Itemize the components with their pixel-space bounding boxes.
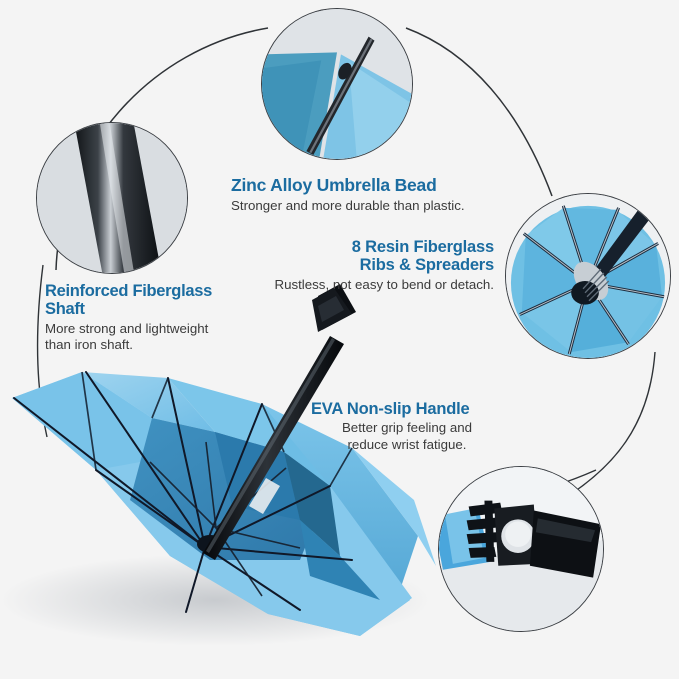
callout-title-bead: Zinc Alloy Umbrella Bead [231, 176, 491, 196]
callout-resin-fiberglass-ribs: 8 Resin Fiberglass Ribs & Spreaders Rust… [252, 238, 494, 293]
callout-zinc-alloy-bead: Zinc Alloy Umbrella Bead Stronger and mo… [231, 176, 491, 214]
inset-ribs-spreaders[interactable] [505, 193, 671, 359]
callout-title-handle: EVA Non-slip Handle [311, 400, 503, 418]
inset-zinc-alloy-bead[interactable] [261, 8, 413, 160]
inset-ribs-art [506, 194, 670, 358]
auto-open-button-inner [505, 521, 531, 547]
inset-fiberglass-shaft[interactable] [36, 122, 188, 274]
callout-title-ribs: 8 Resin Fiberglass Ribs & Spreaders [252, 238, 494, 275]
inset-eva-handle[interactable] [438, 466, 604, 632]
callout-desc-ribs: Rustless, not easy to bend or detach. [252, 277, 494, 293]
infographic-canvas: Zinc Alloy Umbrella Bead Stronger and mo… [0, 0, 679, 679]
inset-bead-art [262, 9, 412, 159]
callout-reinforced-fiberglass-shaft: Reinforced Fiberglass Shaft More strong … [45, 282, 245, 353]
inset-handle-art [439, 467, 603, 631]
callout-eva-non-slip-handle: EVA Non-slip Handle Better grip feeling … [311, 400, 503, 453]
callout-title-shaft: Reinforced Fiberglass Shaft [45, 282, 245, 319]
callout-desc-bead: Stronger and more durable than plastic. [231, 198, 491, 214]
inset-shaft-art [37, 123, 187, 273]
callout-desc-shaft: More strong and lightweight than iron sh… [45, 321, 245, 353]
callout-desc-handle: Better grip feeling and reduce wrist fat… [311, 420, 503, 452]
